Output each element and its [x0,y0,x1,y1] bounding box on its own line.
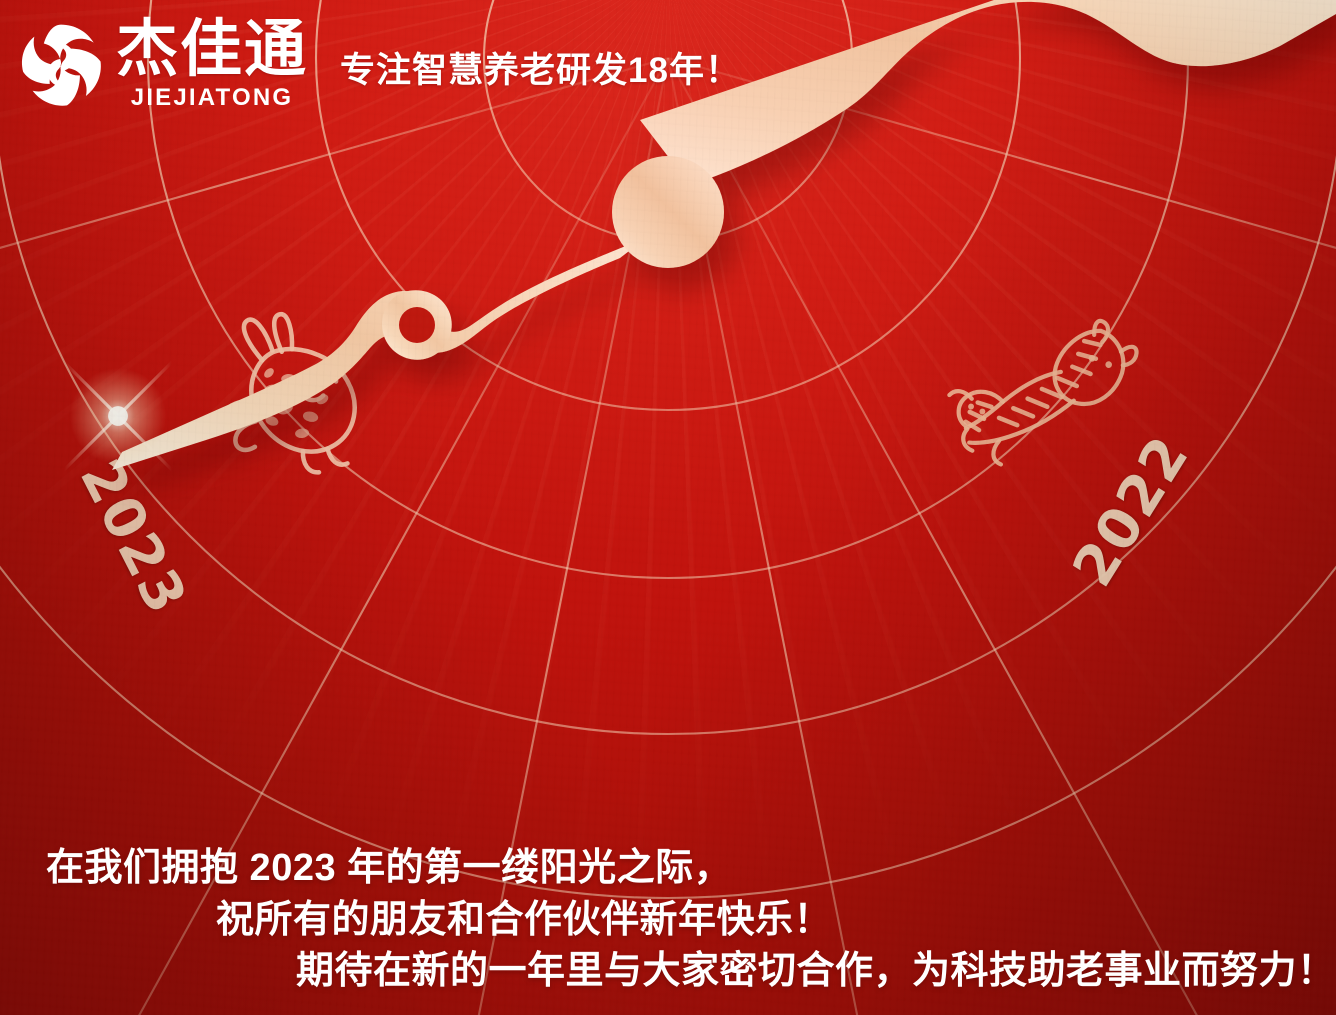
greeting-line-3: 期待在新的一年里与大家密切合作，为科技助老事业而努力！ [38,950,1310,993]
brand-tagline: 专注智慧养老研发18年！ [340,42,741,93]
brand-logo-lockup[interactable]: 杰佳通 JIEJIATONG [18,20,308,110]
greeting-line-2: 祝所有的朋友和合作伙伴新年快乐！ [38,899,1310,942]
brand-name-en: JIEJIATONG [131,86,293,110]
new-year-greeting-poster: 2023 2022 [0,0,1336,1015]
brand-name-cn: 杰佳通 [116,20,308,81]
greeting-message: 在我们拥抱 2023 年的第一缕阳光之际， 祝所有的朋友和合作伙伴新年快乐！ 期… [0,847,1336,993]
poster-header: 杰佳通 JIEJIATONG 专注智慧养老研发18年！ [0,0,741,130]
greeting-line-1: 在我们拥抱 2023 年的第一缕阳光之际， [38,847,1310,890]
jiejiatong-swirl-logo-icon [18,22,104,108]
brand-wordmark: 杰佳通 JIEJIATONG [116,20,308,110]
